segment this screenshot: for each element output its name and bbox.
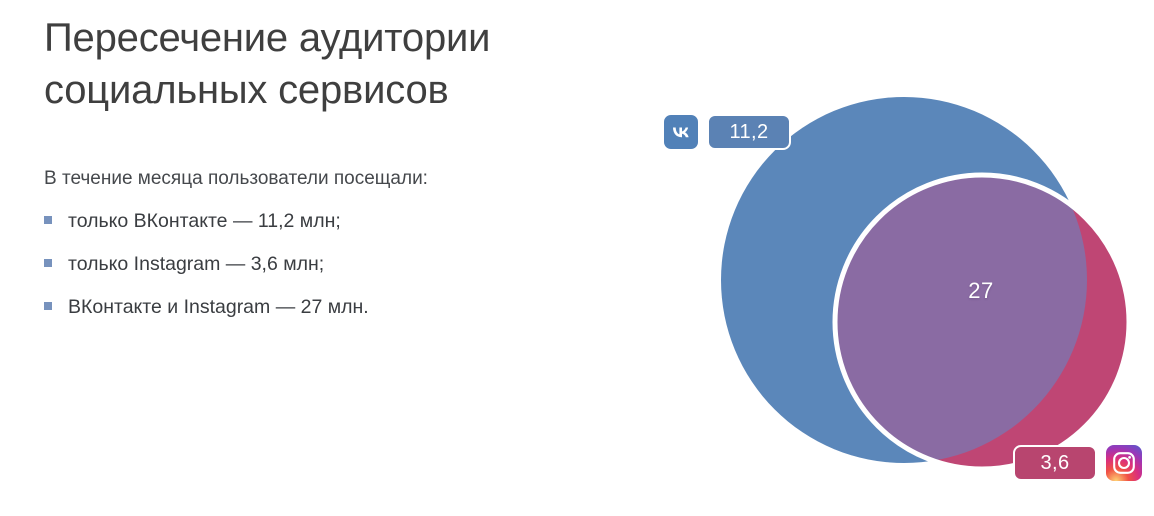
venn-diagram: 27 11,2 3,6 (655, 80, 1154, 516)
page-title: Пересечение аудитории социальных сервисо… (44, 12, 634, 116)
list-item-label: только Instagram — 3,6 млн; (68, 251, 324, 277)
instagram-value-badge: 3,6 (1013, 445, 1097, 481)
list-item: только Instagram — 3,6 млн; (44, 251, 634, 277)
instagram-icon (1104, 443, 1144, 483)
text-column: Пересечение аудитории социальных сервисо… (44, 12, 634, 337)
square-bullet-icon (44, 259, 52, 267)
list-item-label: только ВКонтакте — 11,2 млн; (68, 208, 341, 234)
list-item: ВКонтакте и Instagram — 27 млн. (44, 294, 634, 320)
vk-icon (662, 113, 700, 151)
overlap-value-label: 27 (951, 278, 1011, 304)
vk-badge-group: 11,2 (662, 113, 791, 151)
square-bullet-icon (44, 302, 52, 310)
bullet-list: только ВКонтакте — 11,2 млн; только Inst… (44, 208, 634, 320)
intro-text: В течение месяца пользователи посещали: (44, 166, 634, 192)
vk-value-badge: 11,2 (707, 114, 791, 150)
square-bullet-icon (44, 216, 52, 224)
instagram-badge-group: 3,6 (1013, 443, 1144, 483)
list-item-label: ВКонтакте и Instagram — 27 млн. (68, 294, 369, 320)
list-item: только ВКонтакте — 11,2 млн; (44, 208, 634, 234)
